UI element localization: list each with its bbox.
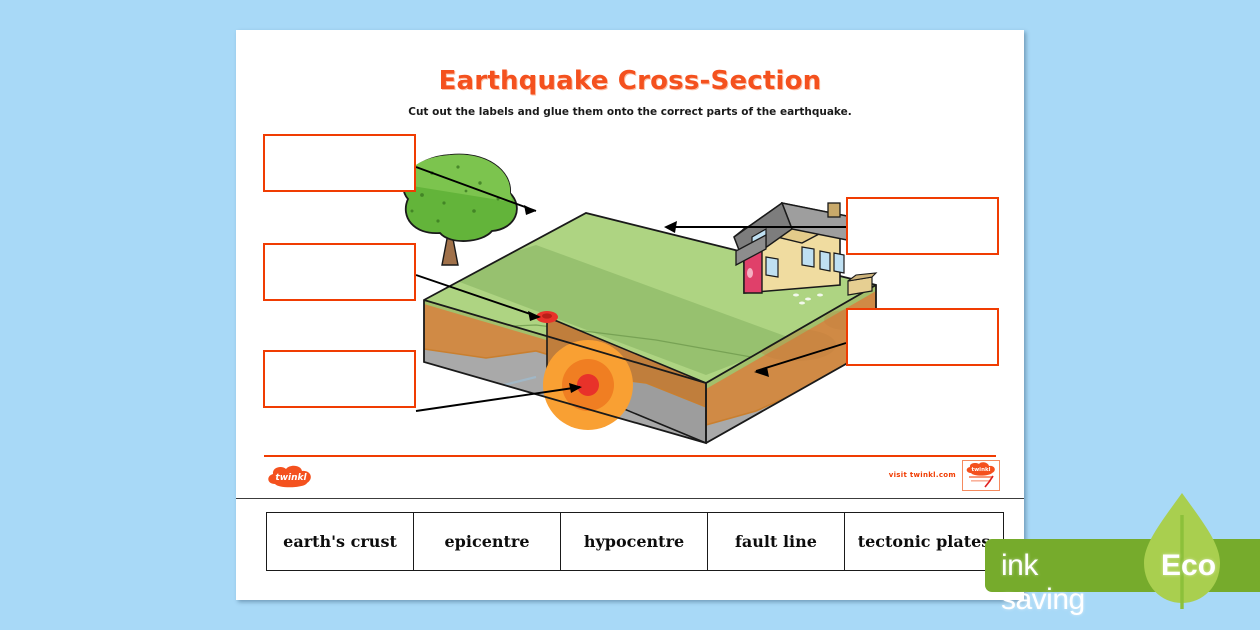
worksheet-page: Earthquake Cross-Section Cut out the lab… xyxy=(236,30,1024,600)
page-divider xyxy=(236,498,1024,499)
label-card[interactable]: hypocentre xyxy=(560,512,707,571)
hypocentre xyxy=(543,340,633,430)
tree-illustration xyxy=(404,154,517,265)
label-card[interactable]: earth's crust xyxy=(266,512,413,571)
footer-divider xyxy=(264,455,996,457)
svg-text:twinkl: twinkl xyxy=(971,467,990,473)
twinkl-logo: twinkl xyxy=(265,464,317,490)
answer-box-left-1[interactable] xyxy=(263,134,416,192)
page-title: Earthquake Cross-Section xyxy=(236,66,1024,96)
answer-box-right-2[interactable] xyxy=(846,308,999,366)
label-card[interactable]: fault line xyxy=(707,512,844,571)
label-card[interactable]: epicentre xyxy=(413,512,560,571)
answer-box-right-1[interactable] xyxy=(846,197,999,255)
eco-text: Eco xyxy=(1161,549,1216,583)
svg-text:twinkl: twinkl xyxy=(275,473,307,483)
ink-saving-text: ink saving xyxy=(1001,549,1085,617)
label-card-strip: earth's crust epicentre hypocentre fault… xyxy=(266,512,1004,571)
visit-twinkl-text: visit twinkl.com xyxy=(889,471,956,479)
twinkl-stamp-badge: twinkl xyxy=(962,460,1000,491)
label-card[interactable]: tectonic plates xyxy=(844,512,1004,571)
page-subtitle: Cut out the labels and glue them onto th… xyxy=(236,106,1024,118)
answer-box-left-3[interactable] xyxy=(263,350,416,408)
answer-box-left-2[interactable] xyxy=(263,243,416,301)
